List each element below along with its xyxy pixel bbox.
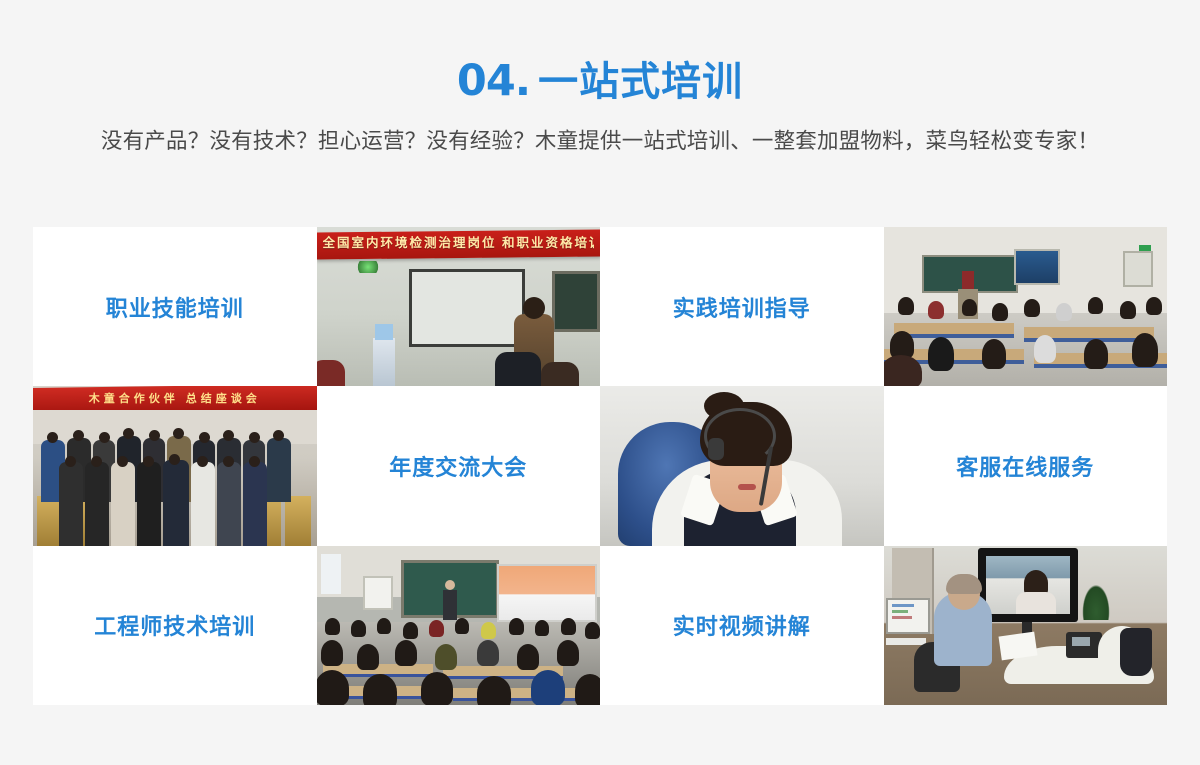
student-head [535,620,549,636]
group-member [163,460,189,545]
training-grid: 职业技能培训 全国室内环境检测治理岗位 和职业资格培训证 实践培训指导 [33,227,1167,705]
student-head [1088,297,1103,314]
grid-cell-call-center-photo[interactable] [600,386,884,545]
monitor-content-line [892,604,914,607]
draped-jacket [1120,628,1152,676]
student-head [377,618,391,634]
page-header: 04.一站式培训 没有产品？没有技术？担心运营？没有经验？木童提供一站式培训、一… [0,0,1200,155]
classroom-students-photo [884,227,1168,386]
page-subtitle: 没有产品？没有技术？担心运营？没有经验？木童提供一站式培训、一整套加盟物料，菜鸟… [0,104,1200,155]
monitor-content-line [892,616,912,619]
group-member [243,462,267,545]
student-head [321,640,343,666]
student-head [429,620,444,637]
banner-caption: 全国室内环境检测治理岗位 和职业资格培训证 [323,232,595,251]
cell-label: 实践培训指导 [673,291,811,323]
student-head [557,640,579,666]
student-head [1024,299,1040,317]
section-number: 04. [457,56,530,106]
projector-glow [355,261,381,273]
grid-cell-live-video-explanation[interactable]: 实时视频讲解 [600,546,884,705]
exit-sign [1139,245,1151,251]
whiteboard [363,576,393,610]
grid-cell-vocational-skill-training[interactable]: 职业技能培训 [33,227,317,386]
phone-screen [1072,637,1090,646]
projection-screen [1014,249,1060,285]
headset-earpiece-icon [708,438,724,460]
grid-cell-classroom-photo[interactable] [884,227,1168,386]
student-head [561,618,576,635]
student-head [477,676,511,705]
student-head [1146,297,1162,315]
projection-screen [497,564,597,622]
cell-label: 客服在线服务 [956,450,1094,482]
student-head [357,644,379,670]
office-plant [1080,580,1112,620]
student-head [585,622,600,639]
student-head [421,672,453,705]
window [321,554,341,594]
student-head [455,618,469,634]
group-member [267,438,291,502]
group-member [85,462,109,545]
student-head [477,640,499,666]
audience-person [317,360,345,386]
cell-label: 职业技能培训 [106,291,244,323]
student-head [1056,303,1072,321]
group-member [137,462,161,545]
grid-cell-group-photo[interactable]: 木童合作伙伴 总结座谈会 [33,386,317,545]
student-head [317,670,349,705]
grid-cell-video-conference-photo[interactable] [884,546,1168,705]
student-head [1132,333,1158,367]
audience-person [495,352,541,386]
student-head [403,622,418,639]
student-head [395,640,417,666]
student-head [1084,339,1108,369]
door [1123,251,1153,287]
student-head [928,337,954,371]
student-head [363,674,397,705]
student-head [1034,335,1056,363]
student-head [351,620,366,637]
desktop-monitor [886,598,930,634]
banner-caption: 木童合作伙伴 总结座谈会 [33,390,317,406]
grid-cell-lecture-hall-photo[interactable] [317,546,601,705]
video-screen [986,556,1070,614]
group-member [191,462,215,545]
keyboard [886,638,926,645]
water-cooler [373,338,395,386]
video-conference-photo [884,546,1168,705]
group-member [59,462,83,545]
call-center-agent-photo [600,386,884,545]
group-member [111,462,135,545]
cell-label: 年度交流大会 [389,450,527,482]
grid-cell-annual-exchange-conference[interactable]: 年度交流大会 [317,386,601,545]
desk-phone [1066,632,1102,658]
page-title: 04.一站式培训 [0,0,1200,104]
student-head [575,674,601,705]
student-desk [453,688,593,701]
projection-screen [409,269,525,347]
seated-man-hair [946,574,982,594]
blackboard [552,271,600,332]
student-head [509,618,524,635]
grid-cell-customer-service-online[interactable]: 客服在线服务 [884,386,1168,545]
student-head [898,297,914,315]
lecture-hall-photo [317,546,601,705]
student-head [325,618,340,635]
cell-label: 实时视频讲解 [673,609,811,641]
grid-cell-seminar-photo[interactable]: 全国室内环境检测治理岗位 和职业资格培训证 [317,227,601,386]
student-head [928,301,944,319]
audience-person [541,362,579,386]
agent-lips [738,484,756,490]
student-head [962,299,977,316]
grid-cell-practical-training-guidance[interactable]: 实践培训指导 [600,227,884,386]
student-head [481,622,496,639]
student-head [992,303,1008,321]
grid-cell-engineer-technical-training[interactable]: 工程师技术培训 [33,546,317,705]
video-display [978,548,1078,622]
promo-page: 04.一站式培训 没有产品？没有技术？担心运营？没有经验？木童提供一站式培训、一… [0,0,1200,765]
student-head [884,355,922,386]
cell-label: 工程师技术培训 [94,609,255,641]
document-paper [998,631,1037,660]
group-photo-red-banner: 木童合作伙伴 总结座谈会 [33,386,317,545]
student-head [517,644,539,670]
group-member [217,462,241,545]
student-head [982,339,1006,369]
monitor-content-line [892,610,908,613]
round-table [285,496,311,546]
seminar-red-banner-photo: 全国室内环境检测治理岗位 和职业资格培训证 [317,227,601,386]
remote-participant-body [1016,592,1056,614]
student-head [435,644,457,670]
student-head [1120,301,1136,319]
student-head [531,670,565,705]
page-title-text: 一站式培训 [538,60,743,104]
lecturer-person [443,590,457,620]
